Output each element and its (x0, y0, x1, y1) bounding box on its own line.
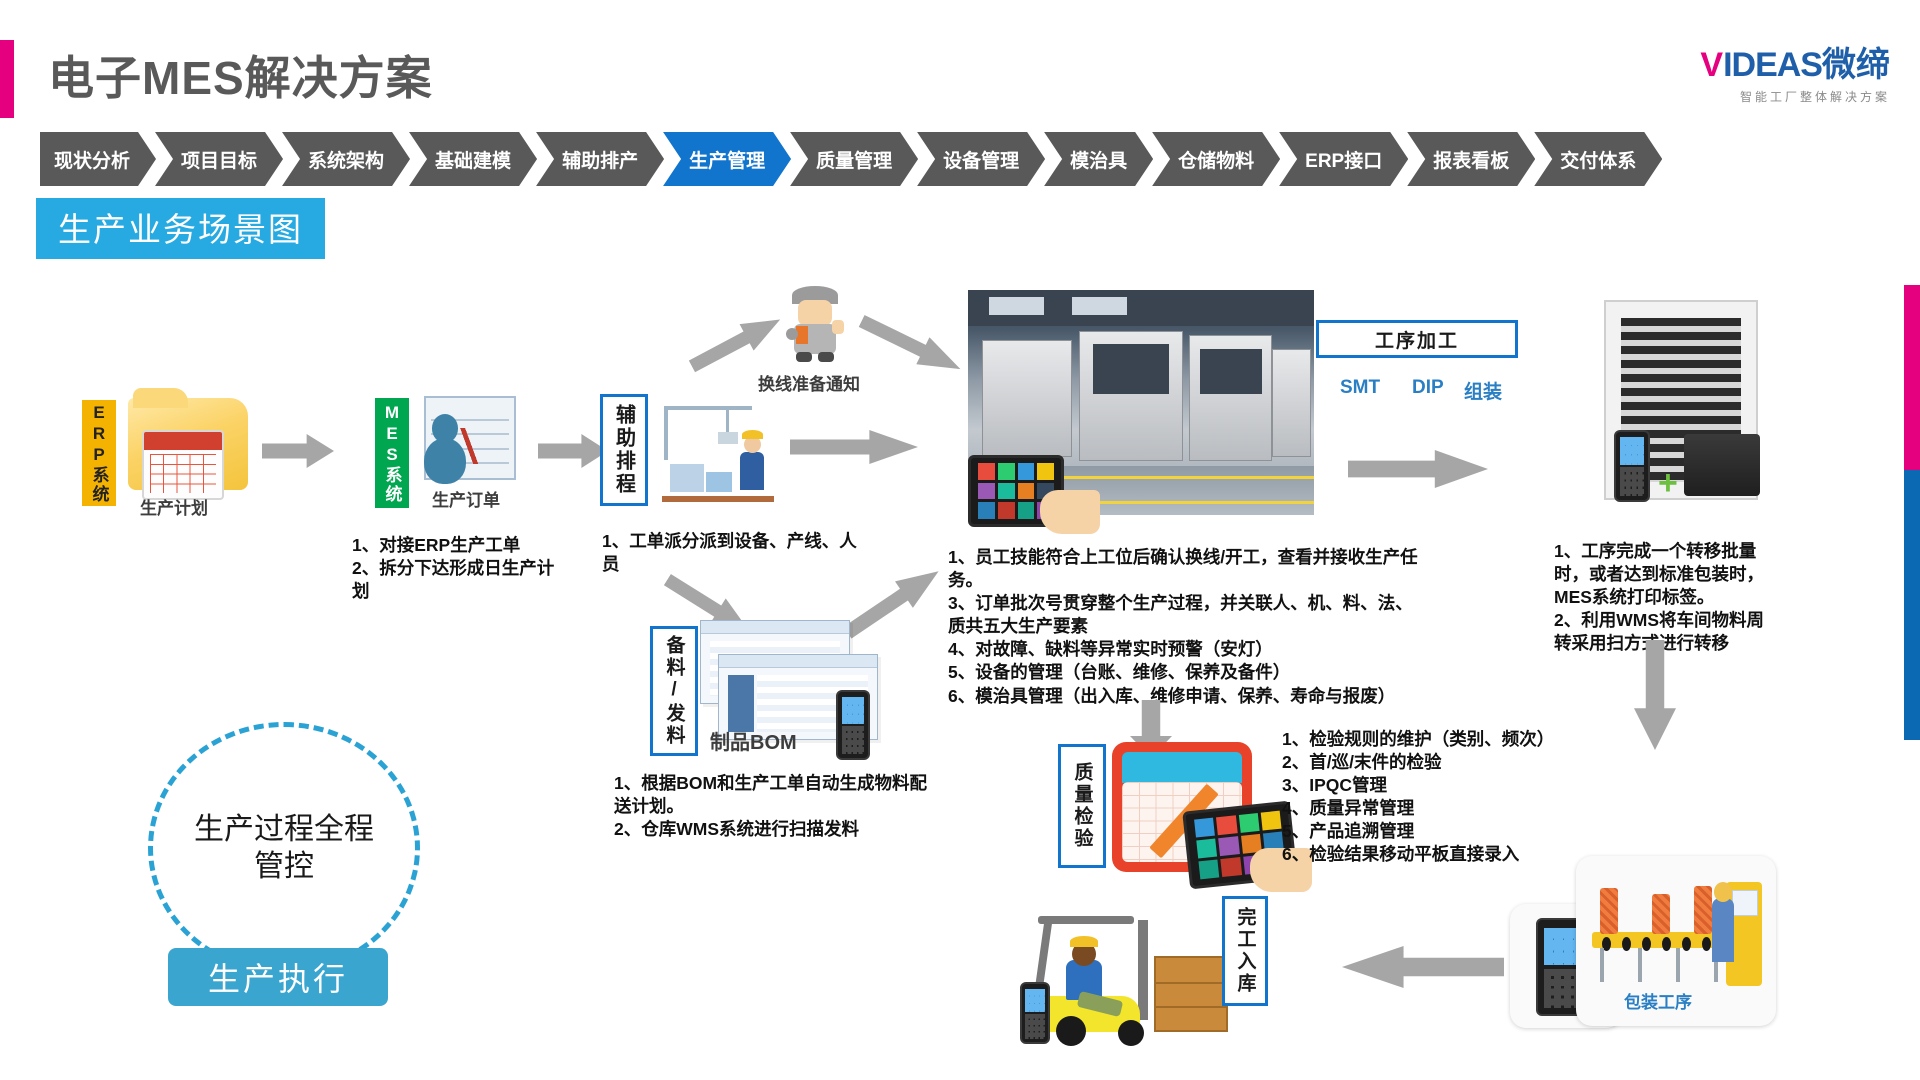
nav-item-5[interactable]: 辅助排产 (536, 132, 664, 186)
logo-chinese-name: 微缔 (1822, 46, 1890, 84)
right-accent-bar-pink (1904, 285, 1920, 470)
nav-item-label: 基础建模 (435, 146, 511, 173)
nav-item-8[interactable]: 设备管理 (917, 132, 1045, 186)
process-tag-assembly: 组装 (1464, 377, 1502, 404)
nav-item-label: 交付体系 (1560, 146, 1636, 173)
page-title: 电子MES解决方案 (48, 42, 433, 108)
nav-item-label: 项目目标 (181, 146, 257, 173)
nav-item-9[interactable]: 模治具 (1044, 132, 1153, 186)
mes-system-tag: MES系统 (375, 398, 409, 508)
logo-v-mark: V (1700, 46, 1723, 84)
plus-sign-icon: + (1658, 470, 1686, 498)
arrow-rack-down (1634, 640, 1676, 750)
nav-item-label: 现状分析 (54, 146, 130, 173)
nav-item-6[interactable]: 生产管理 (663, 132, 791, 186)
section-nav[interactable]: 现状分析项目目标系统架构基础建模辅助排产生产管理质量管理设备管理模治具仓储物料E… (40, 132, 1661, 186)
nav-item-3[interactable]: 系统架构 (282, 132, 410, 186)
changeover-worker-icon (784, 286, 846, 362)
process-box: 工序加工 (1316, 320, 1518, 358)
nav-item-label: 系统架构 (308, 146, 384, 173)
logo-tagline: 智能工厂整体解决方案 (1700, 88, 1890, 105)
finished-goods-warehouse-box: 完工入库 (1222, 896, 1268, 1006)
section-subtitle: 生产业务场景图 (36, 198, 325, 259)
nav-item-label: 辅助排产 (562, 146, 638, 173)
nav-item-7[interactable]: 质量管理 (790, 132, 918, 186)
arrow-aux-to-line (790, 430, 918, 464)
scheduling-worker-illustration (660, 400, 776, 504)
arrow-packaging-to-warehouse (1342, 946, 1504, 988)
forklift-illustration (1020, 912, 1230, 1042)
nav-item-4[interactable]: 基础建模 (409, 132, 537, 186)
nav-item-label: 仓储物料 (1178, 146, 1254, 173)
bom-caption: 制品BOM (710, 726, 797, 755)
arrow-erp-to-mes (262, 434, 334, 468)
erp-system-tag: ERP系统 (82, 400, 116, 506)
logo-wordmark: IDEAS (1723, 46, 1822, 84)
nav-item-label: 设备管理 (943, 146, 1019, 173)
user-avatar-icon (424, 438, 466, 484)
note-transfer: 1、工序完成一个转移批量时，或者达到标准包装时，MES系统打印标签。 2、利用W… (1554, 540, 1776, 655)
brand-logo: VIDEAS微缔 智能工厂整体解决方案 (1700, 48, 1890, 105)
note-quality: 1、检验规则的维护（类别、频次） 2、首/巡/末件的检验 3、IPQC管理 4、… (1282, 728, 1582, 867)
arrow-to-changeover (685, 306, 787, 379)
right-accent-bar-blue (1904, 470, 1920, 740)
left-accent-bar (0, 40, 14, 118)
changeover-caption: 换线准备通知 (758, 370, 860, 395)
nav-item-label: ERP接口 (1305, 146, 1382, 173)
aux-scheduling-box: 辅助排程 (600, 394, 648, 506)
nav-item-10[interactable]: 仓储物料 (1152, 132, 1280, 186)
quality-inspection-box: 质量检验 (1058, 744, 1106, 868)
production-plan-calendar-icon (142, 430, 224, 500)
rack-pda-scanner (1614, 430, 1650, 502)
nav-item-13[interactable]: 交付体系 (1534, 132, 1662, 186)
note-bom: 1、根据BOM和生产工单自动生成物料配送计划。 2、仓库WMS系统进行扫描发料 (614, 772, 944, 841)
nav-item-label: 报表看板 (1433, 146, 1509, 173)
nav-item-2[interactable]: 项目目标 (155, 132, 283, 186)
nav-item-11[interactable]: ERP接口 (1279, 132, 1408, 186)
material-prep-box: 备料/发料 (650, 626, 698, 756)
arrow-changeover-to-line (855, 307, 967, 382)
nav-item-label: 生产管理 (689, 146, 765, 173)
note-erp-mes: 1、对接ERP生产工单 2、拆分下达形成日生产计划 (352, 534, 562, 603)
nav-item-12[interactable]: 报表看板 (1407, 132, 1535, 186)
process-control-label: 生产过程全程管控 (186, 811, 383, 886)
nav-item-1[interactable]: 现状分析 (40, 132, 156, 186)
bom-pda-scanner (836, 690, 870, 760)
pointing-hand-icon (1040, 490, 1100, 534)
arrow-line-to-rack (1348, 450, 1488, 488)
process-tag-smt: SMT (1340, 377, 1380, 399)
erp-caption: 生产计划 (140, 494, 208, 519)
nav-item-label: 模治具 (1070, 146, 1127, 173)
process-control-circle: 生产过程全程管控 (148, 722, 420, 974)
packaging-caption: 包装工序 (1624, 988, 1692, 1013)
note-dispatch: 1、工单派分派到设备、产线、人员 (602, 530, 857, 576)
arrow-mes-to-aux (538, 434, 608, 468)
production-execution-button[interactable]: 生产执行 (168, 948, 388, 1006)
label-printer-icon (1684, 434, 1760, 496)
mes-caption: 生产订单 (432, 486, 500, 511)
process-tag-dip: DIP (1412, 377, 1444, 399)
nav-item-label: 质量管理 (816, 146, 892, 173)
note-production: 1、员工技能符合上工位后确认换线/开工，查看并接收生产任务。 3、订单批次号贯穿… (948, 546, 1428, 708)
